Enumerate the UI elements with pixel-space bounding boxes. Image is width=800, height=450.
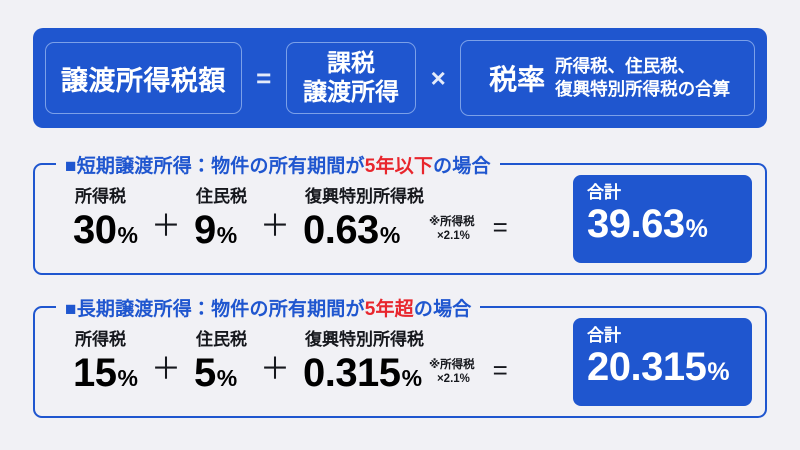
term-resident-tax-label: 住民税 (194, 188, 247, 205)
term-income-tax-value: 30% (73, 210, 138, 250)
term-resident-tax-unit: % (217, 367, 237, 390)
equals-operator-icon-long: = (493, 357, 508, 383)
term-income-tax-unit: % (118, 224, 138, 247)
formula-base-box: 課税 譲渡所得 (286, 42, 417, 114)
term-income-tax-unit: % (118, 367, 138, 390)
short-term-total-label: 合計 (587, 184, 752, 201)
short-term-total-number: 39.63 (587, 204, 685, 244)
term-reconstruction-tax-unit: % (380, 224, 400, 247)
long-term-total-unit: % (707, 360, 729, 385)
section-long-term-capital-gain: ■長期譲渡所得：物件の所有期間が5年超の場合 所得税 15% ＋ 住民税 5% … (33, 306, 767, 418)
formula-base-line1: 課税 (327, 49, 375, 78)
tax-formula-banner: 譲渡所得税額 = 課税 譲渡所得 × 税率 所得税、住民税、 復興特別所得税の合… (33, 28, 767, 128)
reconstruction-tax-footnote: ※所得税 ×2.1% (429, 215, 475, 244)
footnote-line1: ※所得税 (429, 216, 475, 228)
plus-operator-icon-1: ＋ (151, 355, 181, 385)
reconstruction-tax-footnote: ※所得税 ×2.1% (429, 358, 475, 387)
plus-operator-icon-2: ＋ (260, 212, 290, 242)
term-reconstruction-tax-number: 0.315 (303, 353, 401, 393)
long-term-total-value: 20.315% (587, 347, 752, 387)
term-reconstruction-tax-number: 0.63 (303, 210, 379, 250)
long-term-total-label: 合計 (587, 327, 752, 344)
term-income-tax: 所得税 30% (73, 188, 138, 250)
term-reconstruction-tax-label: 復興特別所得税 (303, 331, 424, 348)
term-income-tax: 所得税 15% (73, 331, 138, 393)
term-resident-tax-unit: % (217, 224, 237, 247)
term-resident-tax: 住民税 5% (194, 331, 247, 393)
term-income-tax-number: 15 (73, 353, 117, 393)
plus-operator-icon-2: ＋ (260, 355, 290, 385)
formula-result-box: 譲渡所得税額 (45, 42, 242, 114)
section-short-term-capital-gain: ■短期譲渡所得：物件の所有期間が5年以下の場合 所得税 30% ＋ 住民税 9%… (33, 163, 767, 275)
term-reconstruction-tax-value: 0.315% (303, 353, 422, 393)
term-reconstruction-tax-label: 復興特別所得税 (303, 188, 424, 205)
term-reconstruction-tax-unit: % (402, 367, 422, 390)
formula-rate-note-line1: 所得税、住民税、 (555, 56, 695, 76)
formula-rate-label: 税率 (489, 58, 545, 98)
plus-operator-icon-1: ＋ (151, 212, 181, 242)
term-income-tax-label: 所得税 (73, 188, 126, 205)
term-income-tax-value: 15% (73, 353, 138, 393)
term-resident-tax-number: 5 (194, 353, 216, 393)
term-resident-tax-label: 住民税 (194, 331, 247, 348)
footnote-line2: ×2.1% (429, 229, 475, 243)
formula-result-label: 譲渡所得税額 (61, 59, 226, 98)
formula-rate-note: 所得税、住民税、 復興特別所得税の合算 (555, 55, 730, 101)
footnote-line1: ※所得税 (429, 359, 475, 371)
long-term-total-number: 20.315 (587, 347, 706, 387)
formula-rate-note-line2: 復興特別所得税の合算 (555, 79, 730, 99)
formula-base-line2: 譲渡所得 (303, 78, 399, 107)
term-income-tax-number: 30 (73, 210, 117, 250)
equals-operator-icon-short: = (493, 214, 508, 240)
term-income-tax-label: 所得税 (73, 331, 126, 348)
multiply-operator-icon: × (416, 63, 460, 94)
term-resident-tax: 住民税 9% (194, 188, 247, 250)
equals-operator-icon: = (242, 63, 286, 94)
footnote-line2: ×2.1% (429, 372, 475, 386)
short-term-total-unit: % (686, 217, 708, 242)
term-reconstruction-tax: 復興特別所得税 0.63% (303, 188, 424, 250)
term-reconstruction-tax: 復興特別所得税 0.315% (303, 331, 424, 393)
short-term-total-box: 合計 39.63% (573, 175, 752, 263)
formula-rate-box: 税率 所得税、住民税、 復興特別所得税の合算 (460, 40, 755, 116)
term-reconstruction-tax-value: 0.63% (303, 210, 400, 250)
term-resident-tax-number: 9 (194, 210, 216, 250)
short-term-total-value: 39.63% (587, 204, 752, 244)
long-term-total-box: 合計 20.315% (573, 318, 752, 406)
term-resident-tax-value: 5% (194, 353, 237, 393)
term-resident-tax-value: 9% (194, 210, 237, 250)
